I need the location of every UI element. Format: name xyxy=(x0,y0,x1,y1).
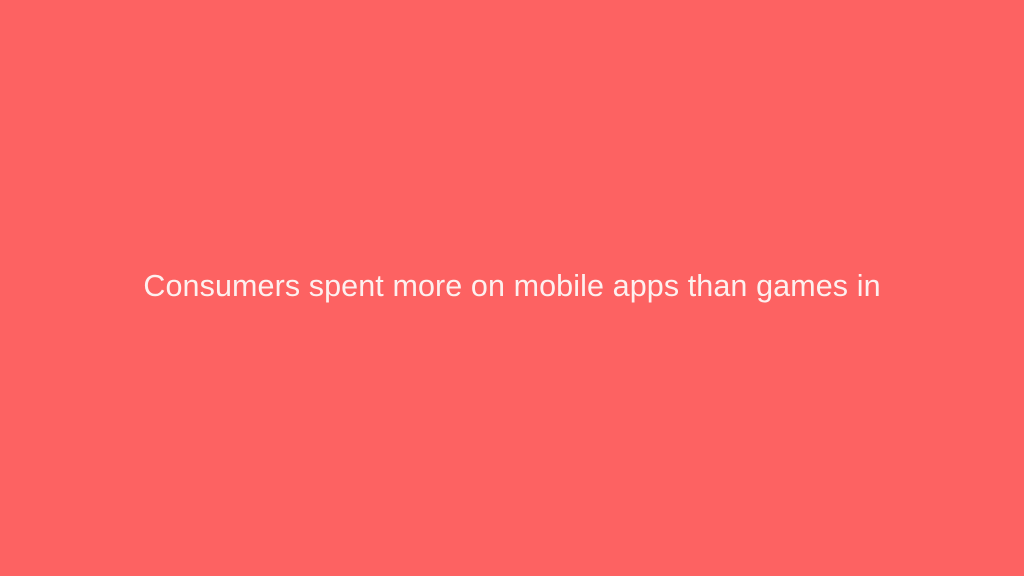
headline-card: Consumers spent more on mobile apps than… xyxy=(0,0,1024,576)
headline-block: Consumers spent more on mobile apps than… xyxy=(0,266,1024,306)
headline-text: Consumers spent more on mobile apps than… xyxy=(80,266,944,306)
